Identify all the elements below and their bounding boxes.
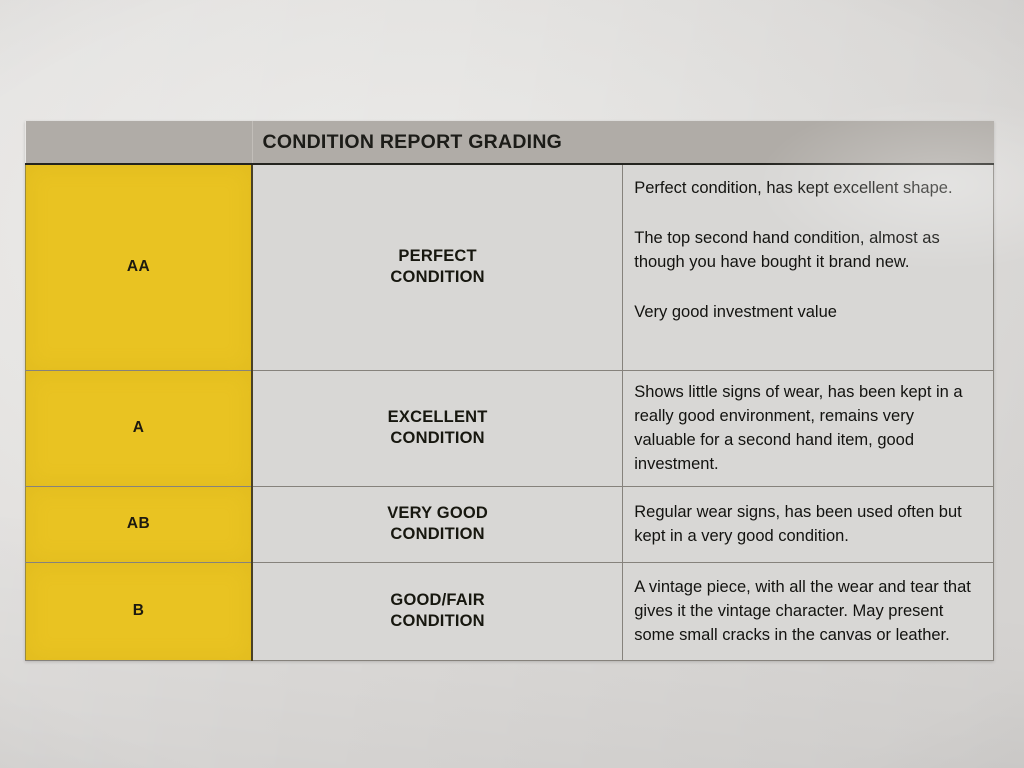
grade-description-a: Shows little signs of wear, has been kep… [623, 370, 994, 486]
description-paragraph: Regular wear signs, has been used often … [634, 500, 979, 549]
grade-description-b: A vintage piece, with all the wear and t… [623, 562, 994, 660]
grade-label-line1: GOOD/FAIR [390, 591, 484, 609]
condition-report-grading-table: CONDITION REPORT GRADING AA PERFECT COND… [25, 121, 994, 661]
grade-label-line2: CONDITION [390, 429, 484, 447]
table-body: AA PERFECT CONDITION Perfect condition, … [26, 164, 994, 660]
table-row: A EXCELLENT CONDITION Shows little signs… [26, 370, 994, 486]
grade-label-aa: PERFECT CONDITION [252, 164, 623, 370]
description-paragraph: Very good investment value [634, 300, 979, 324]
grade-label-ab: VERY GOOD CONDITION [252, 486, 623, 562]
header-grade-column-spacer [26, 121, 253, 164]
grade-code-aa: AA [26, 164, 253, 370]
grade-label-line2: CONDITION [390, 612, 484, 630]
grade-code-ab: AB [26, 486, 253, 562]
grade-description-aa: Perfect condition, has kept excellent sh… [623, 164, 994, 370]
description-paragraph: Perfect condition, has kept excellent sh… [634, 176, 979, 200]
page-title: CONDITION REPORT GRADING [252, 121, 994, 164]
condition-report-table-container: CONDITION REPORT GRADING AA PERFECT COND… [25, 121, 994, 639]
table-row: B GOOD/FAIR CONDITION A vintage piece, w… [26, 562, 994, 660]
grade-description-ab: Regular wear signs, has been used often … [623, 486, 994, 562]
table-row: AB VERY GOOD CONDITION Regular wear sign… [26, 486, 994, 562]
description-paragraph: Shows little signs of wear, has been kep… [634, 380, 979, 477]
grade-label-line1: PERFECT [398, 247, 476, 265]
grade-code-b: B [26, 562, 253, 660]
grade-label-line1: VERY GOOD [387, 504, 488, 522]
grade-label-line2: CONDITION [390, 268, 484, 286]
grade-label-b: GOOD/FAIR CONDITION [252, 562, 623, 660]
grade-label-a: EXCELLENT CONDITION [252, 370, 623, 486]
table-row: AA PERFECT CONDITION Perfect condition, … [26, 164, 994, 370]
description-paragraph: The top second hand condition, almost as… [634, 226, 979, 275]
grade-label-line1: EXCELLENT [388, 408, 488, 426]
grade-code-a: A [26, 370, 253, 486]
description-paragraph: A vintage piece, with all the wear and t… [634, 575, 979, 648]
header-row: CONDITION REPORT GRADING [26, 121, 994, 164]
grade-label-line2: CONDITION [390, 525, 484, 543]
table-header: CONDITION REPORT GRADING [26, 121, 994, 164]
